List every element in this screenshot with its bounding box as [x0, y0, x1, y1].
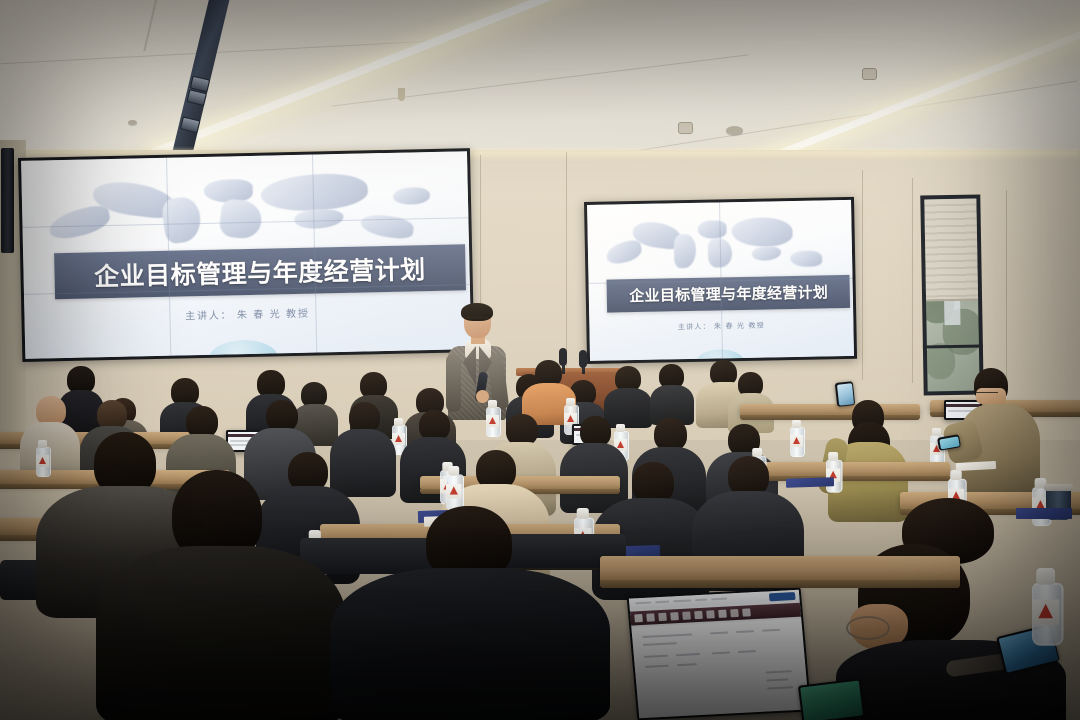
slide-canvas-secondary: 企业目标管理与年度经营计划 主讲人： 朱 春 光 教授	[587, 200, 854, 361]
audience-member	[650, 364, 694, 422]
audience-member-foreground	[96, 470, 346, 720]
secondary-video-wall-screen: 企业目标管理与年度经营计划 主讲人： 朱 春 光 教授	[587, 200, 854, 361]
laptop-display-document	[629, 590, 809, 718]
desk-edge	[600, 580, 960, 588]
slide-subtitle: 主讲人： 朱 春 光 教授	[24, 302, 470, 327]
slide-title-secondary: 企业目标管理与年度经营计划	[629, 281, 828, 306]
ceiling-sprinkler	[678, 122, 693, 134]
smartphone-green[interactable]	[798, 678, 864, 720]
desk	[600, 556, 960, 582]
audience-member-foreground	[330, 506, 610, 720]
secondary-video-wall[interactable]: 企业目标管理与年度经营计划 主讲人： 朱 春 光 教授	[584, 197, 857, 364]
slide-orb-graphic	[208, 339, 279, 358]
lecture-hall-photo: 企业目标管理与年度经营计划 主讲人： 朱 春 光 教授	[0, 0, 1080, 720]
wall-panel-seam	[912, 178, 913, 383]
spotlight-fixture	[180, 116, 201, 133]
wall-panel-seam	[1006, 190, 1007, 385]
audience-member	[728, 372, 774, 430]
window-blind[interactable]	[924, 199, 978, 302]
ceiling-fitting	[128, 120, 137, 125]
wall-panel-seam	[566, 152, 567, 367]
spotlight-fixture	[186, 89, 207, 106]
main-video-wall[interactable]: 企业目标管理与年度经营计划 主讲人： 朱 春 光 教授	[18, 148, 474, 362]
main-video-wall-screen: 企业目标管理与年度经营计划 主讲人： 朱 春 光 教授	[21, 151, 471, 359]
podium-microphone	[579, 350, 587, 368]
ceiling-speaker	[726, 126, 743, 135]
wall-panel-seam	[862, 170, 863, 380]
ceiling-sprinkler	[862, 68, 877, 80]
audience-member-tan-jacket	[958, 368, 1040, 490]
smartphone-camera[interactable]	[835, 381, 855, 407]
wall-loudspeaker	[1, 148, 14, 253]
ceiling-pendant-sensor	[398, 88, 405, 101]
window	[920, 194, 983, 395]
glasses-icon	[846, 616, 890, 640]
slide-canvas: 企业目标管理与年度经营计划 主讲人： 朱 春 光 教授	[21, 151, 471, 359]
laptop-foreground[interactable]	[627, 588, 812, 720]
glasses-icon	[976, 392, 998, 397]
glasses-icon	[466, 317, 488, 323]
